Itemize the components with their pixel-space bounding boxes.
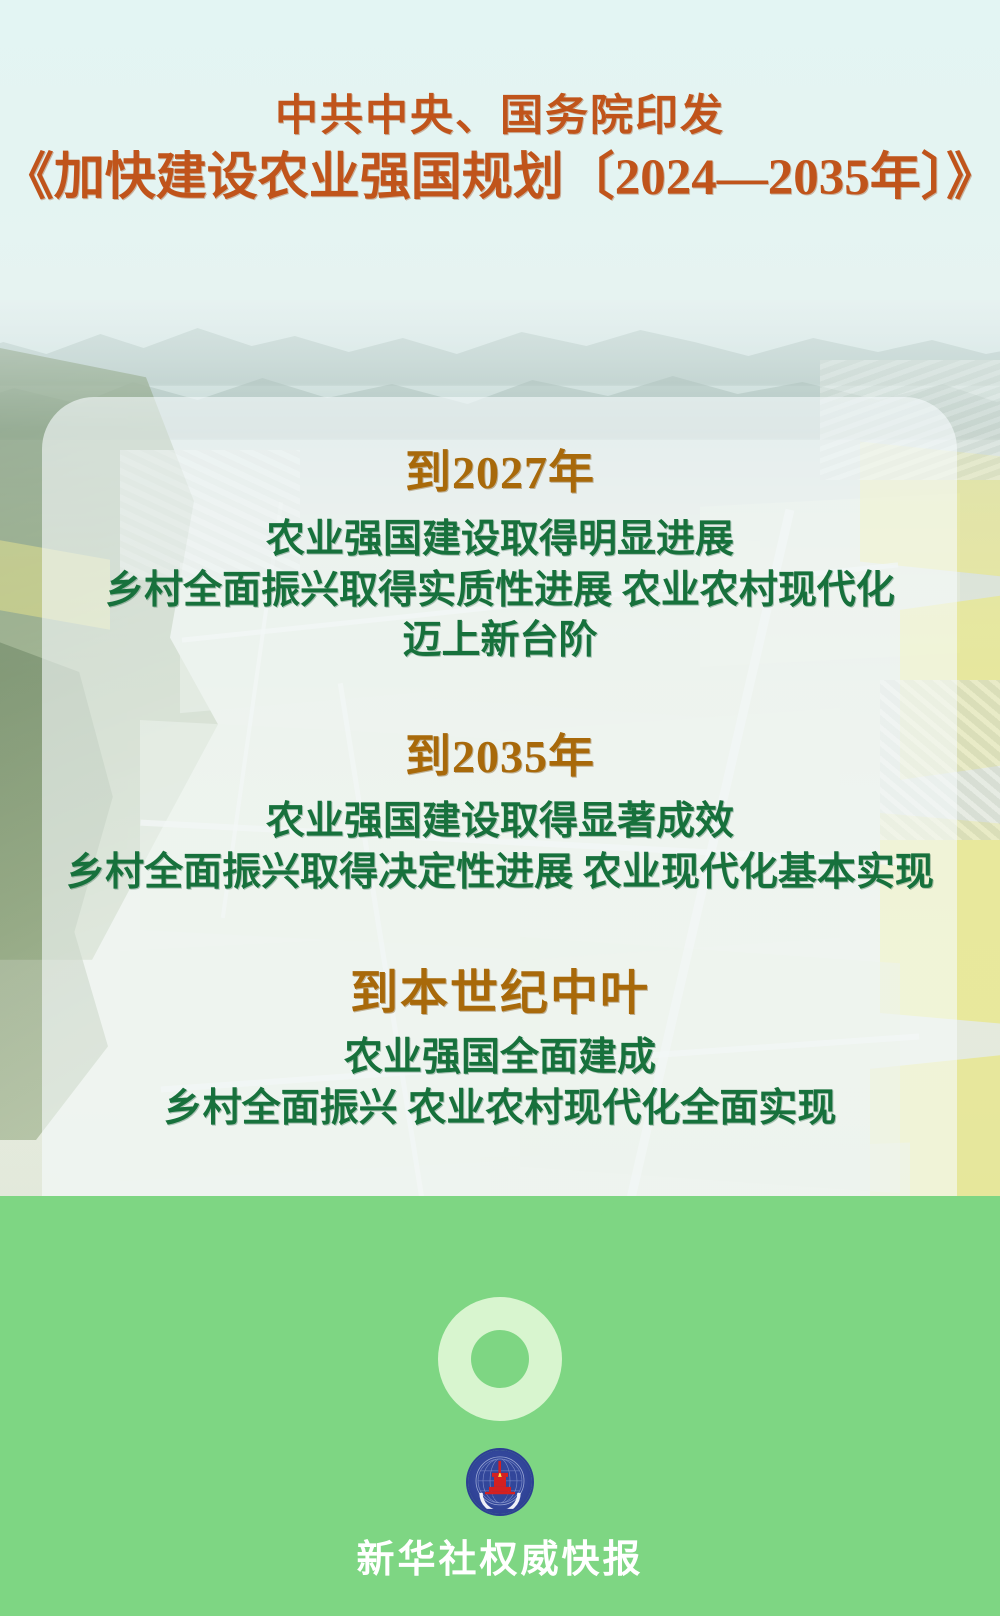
footer-branding: XINHUA 新华社权威快报 [0, 1450, 1000, 1583]
footer-ring-decoration [438, 1297, 562, 1421]
poster-root: 中共中央、国务院印发 《加快建设农业强国规划〔2024—2035年〕》 到202… [0, 0, 1000, 1616]
milestone-block-2035: 到2035年 农业强国建设取得显著成效 乡村全面振兴取得决定性进展 农业现代化基… [0, 729, 1000, 898]
milestone-block-mid-century: 到本世纪中叶 农业强国全面建成 乡村全面振兴 农业农村现代化全面实现 [0, 965, 1000, 1135]
milestone-line: 农业强国建设取得明显进展 [0, 515, 1000, 566]
milestone-line: 乡村全面振兴取得实质性进展 农业农村现代化 [0, 566, 1000, 617]
xinhua-emblem-svg: XINHUA [472, 1453, 528, 1509]
milestone-body: 农业强国建设取得明显进展 乡村全面振兴取得实质性进展 农业农村现代化 迈上新台阶 [0, 515, 1000, 667]
logo-wordmark: XINHUA [490, 1494, 510, 1500]
milestone-line: 乡村全面振兴 农业农村现代化全面实现 [0, 1084, 1000, 1135]
milestone-line: 农业强国建设取得显著成效 [0, 797, 1000, 848]
milestone-heading: 到本世纪中叶 [0, 965, 1000, 1024]
milestone-line: 迈上新台阶 [0, 616, 1000, 667]
title-line-2: 《加快建设农业强国规划〔2024—2035年〕》 [3, 148, 998, 208]
milestone-heading: 到2035年 [0, 729, 1000, 785]
milestone-line: 农业强国全面建成 [0, 1033, 1000, 1084]
xinhua-logo-icon: XINHUA [468, 1450, 532, 1514]
brand-name: 新华社权威快报 [356, 1528, 643, 1583]
title-line-1: 中共中央、国务院印发 [275, 92, 725, 143]
milestone-line: 乡村全面振兴取得决定性进展 农业现代化基本实现 [0, 848, 1000, 899]
milestone-heading: 到2027年 [0, 445, 1000, 501]
milestone-body: 农业强国全面建成 乡村全面振兴 农业农村现代化全面实现 [0, 1033, 1000, 1134]
poster-title: 中共中央、国务院印发 《加快建设农业强国规划〔2024—2035年〕》 [0, 0, 1000, 300]
milestone-list: 到2027年 农业强国建设取得明显进展 乡村全面振兴取得实质性进展 农业农村现代… [0, 397, 1000, 1197]
milestone-block-2027: 到2027年 农业强国建设取得明显进展 乡村全面振兴取得实质性进展 农业农村现代… [0, 445, 1000, 667]
milestone-body: 农业强国建设取得显著成效 乡村全面振兴取得决定性进展 农业现代化基本实现 [0, 797, 1000, 898]
